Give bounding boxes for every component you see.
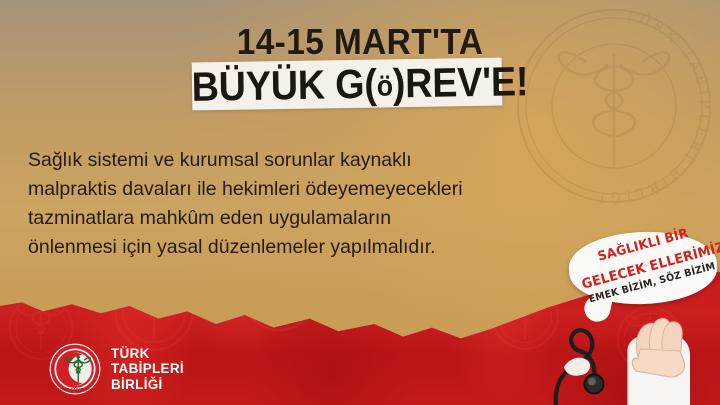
body-line-4: önlenmesi için yasal düzenlemeler yapılm… — [28, 233, 480, 262]
red-watermark-emblem — [236, 251, 322, 337]
ttb-logo: TÜRK TABİPLERİ TÜRK TABİPLERİ BİRLİĞİ — [48, 342, 184, 396]
red-watermark-emblem — [486, 277, 564, 355]
headline-main: BÜYÜK G(ö)REV'E! — [28, 52, 691, 115]
headline-paren-close: ) — [392, 60, 405, 107]
headline-paren-open: ( — [364, 60, 377, 107]
ttb-emblem-icon: TÜRK TABİPLERİ — [48, 342, 102, 396]
headline-o-glyph: ö — [376, 70, 393, 103]
body-copy: Sağlık sistemi ve kurumsal sorunlar kayn… — [28, 146, 480, 262]
headline-part-b: REV'E! — [405, 58, 529, 107]
svg-text:TÜRK TABİPLERİ: TÜRK TABİPLERİ — [56, 388, 92, 393]
headline-band-wrap: BÜYÜK G(ö)REV'E! — [0, 58, 720, 114]
ttb-logo-line-3: BİRLİĞİ — [111, 377, 184, 393]
ttb-logo-line-2: TABİPLERİ — [111, 361, 184, 377]
ttb-logo-line-1: TÜRK — [111, 346, 184, 362]
body-line-3: tazminatlara mahkûm eden uygulamaların — [28, 204, 480, 233]
ttb-logo-text: TÜRK TABİPLERİ BİRLİĞİ — [111, 346, 184, 393]
red-watermark-emblem — [612, 301, 688, 377]
poster-root: TÜRK TABİPLERİ BİRLİĞİ 14-15 MART'TA BÜY… — [0, 0, 720, 405]
headline-part-a: BÜYÜK G — [191, 60, 364, 110]
body-line-2: malpraktis davaları ile hekimleri ödeyem… — [28, 175, 480, 204]
body-line-1: Sağlık sistemi ve kurumsal sorunlar kayn… — [28, 146, 480, 175]
